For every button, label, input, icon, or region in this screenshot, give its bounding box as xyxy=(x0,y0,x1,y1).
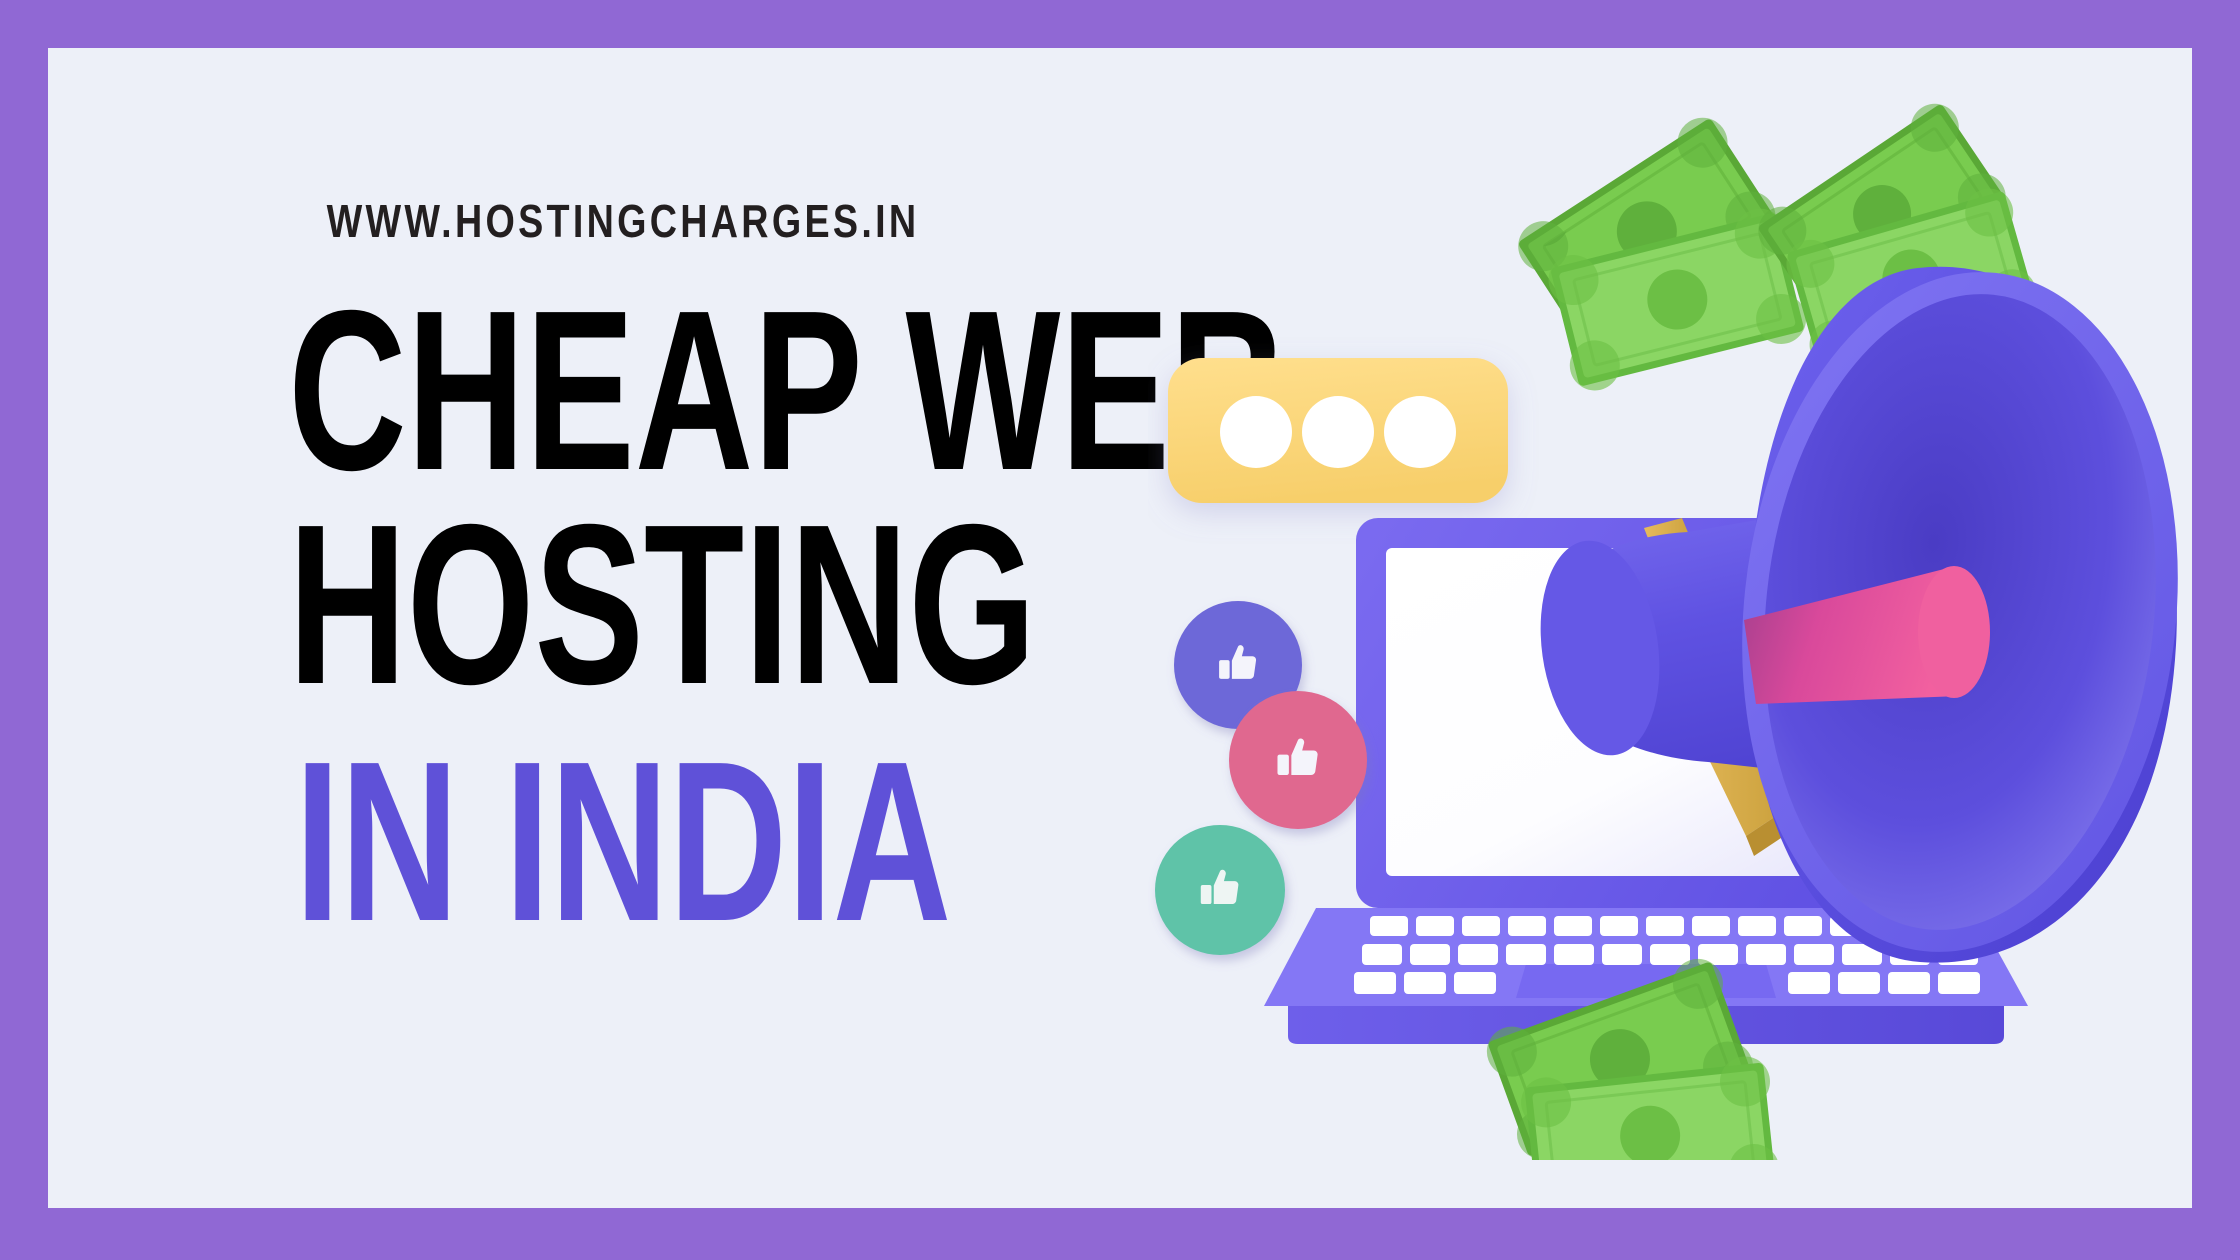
headline-line-1: CHEAP WEB xyxy=(288,300,958,482)
site-url: WWW.HOSTINGCHARGES.IN xyxy=(242,198,1005,244)
chat-dot-1 xyxy=(1220,396,1292,468)
banner-inner-panel: WWW.HOSTINGCHARGES.IN CHEAP WEB HOSTING … xyxy=(48,48,2192,1208)
hero-illustration xyxy=(1148,100,2192,1160)
thumbs-up-pink xyxy=(1229,691,1367,829)
money-top-left xyxy=(1509,108,1812,396)
chat-dot-3 xyxy=(1384,396,1456,468)
headline-text-block: WWW.HOSTINGCHARGES.IN CHEAP WEB HOSTING … xyxy=(158,198,1088,933)
thumbs-up-teal xyxy=(1155,825,1285,955)
headline-line-2: HOSTING xyxy=(288,514,958,696)
promo-banner: WWW.HOSTINGCHARGES.IN CHEAP WEB HOSTING … xyxy=(0,0,2240,1260)
page-subtitle: IN INDIA xyxy=(288,751,958,933)
chat-dot-2 xyxy=(1302,396,1374,468)
chat-bubble xyxy=(1168,358,1508,503)
page-title: CHEAP WEB HOSTING xyxy=(288,300,958,697)
